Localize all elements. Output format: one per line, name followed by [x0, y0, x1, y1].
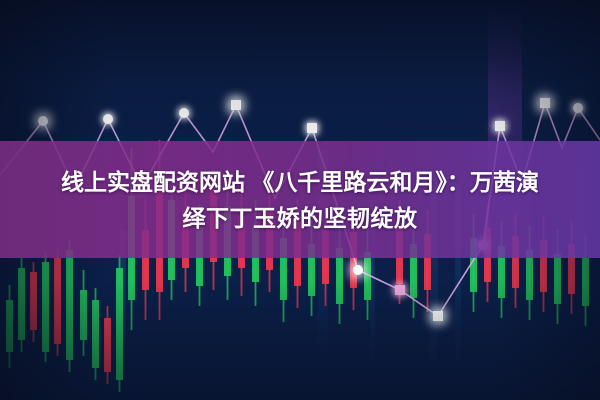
- headline-line-2: 绎下丁玉娇的坚韧绽放: [183, 200, 418, 236]
- headline-block: 线上实盘配资网站 《八千里路云和月》：万茜演 绎下丁玉娇的坚韧绽放: [0, 141, 600, 258]
- banner-image: 线上实盘配资网站 《八千里路云和月》：万茜演 绎下丁玉娇的坚韧绽放: [0, 0, 600, 400]
- headline-line-1: 线上实盘配资网站 《八千里路云和月》：万茜演: [61, 164, 539, 200]
